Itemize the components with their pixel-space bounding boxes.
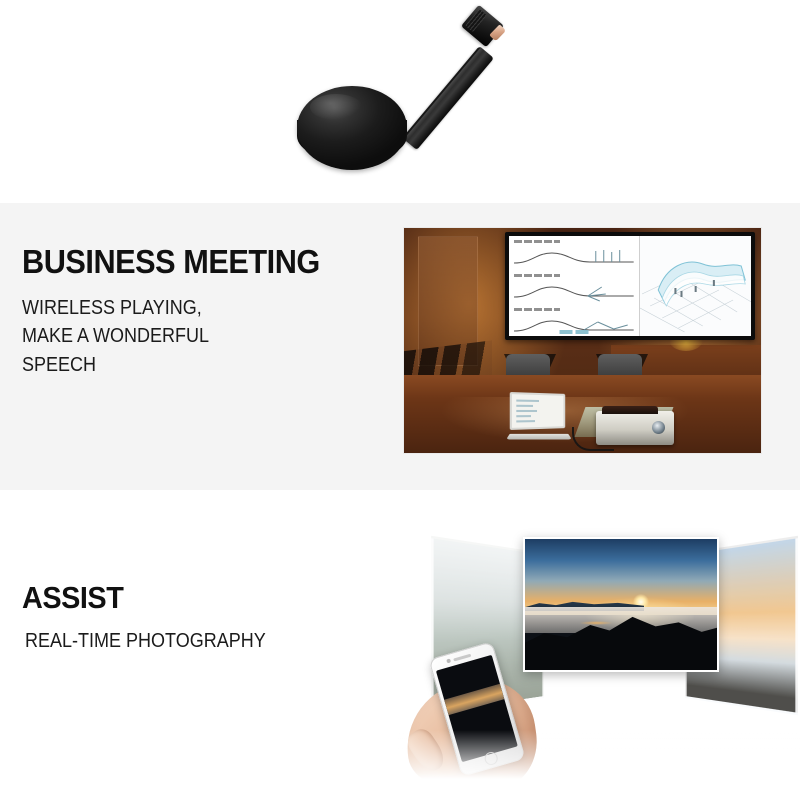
projector-top-panel (602, 406, 658, 414)
phone-photo-preview (444, 684, 504, 715)
hero-section (0, 0, 800, 203)
legend-swatch (559, 330, 572, 334)
photography-photo (398, 520, 800, 800)
diagram-panel-left (509, 236, 640, 336)
product-image-dongle (282, 2, 522, 200)
front-camera-icon (446, 658, 451, 663)
dongle-highlight (310, 94, 362, 120)
isometric-render-icon (640, 236, 751, 336)
laptop-screen (510, 392, 565, 430)
legend-swatch (575, 330, 588, 334)
display-content (509, 236, 751, 336)
diagram-curve-icon (514, 282, 634, 302)
business-meeting-copy: BUSINESS MEETING WIRELESS PLAYING, MAKE … (22, 245, 342, 379)
projector-lens-icon (652, 421, 665, 434)
product-detail-page: BUSINESS MEETING WIRELESS PLAYING, MAKE … (0, 0, 800, 800)
business-meeting-headline: BUSINESS MEETING (22, 245, 320, 278)
bottom-fade (398, 730, 800, 800)
hdmi-connector-icon (461, 5, 504, 48)
business-meeting-subline: WIRELESS PLAYING, MAKE A WONDERFUL SPEEC… (22, 294, 310, 379)
assist-subline: REAL-TIME PHOTOGRAPHY (25, 627, 266, 655)
photo-panel-center (523, 537, 719, 672)
laptop-keyboard (506, 434, 572, 440)
diagram-curve-icon (514, 248, 634, 268)
dongle-cable (402, 46, 494, 150)
diagram-label (514, 308, 560, 311)
laptop (508, 393, 570, 441)
diagram-label (514, 274, 560, 277)
assist-copy: ASSIST REAL-TIME PHOTOGRAPHY (22, 582, 292, 655)
diagram-label (514, 240, 560, 243)
conference-room-photo (404, 228, 761, 453)
diagram-row (514, 274, 634, 304)
wall-display-screen (505, 232, 755, 340)
diagram-row (514, 240, 634, 270)
diagram-legend (559, 330, 588, 334)
diagram-panel-right (640, 236, 751, 336)
assist-headline: ASSIST (22, 582, 274, 613)
projector (596, 411, 674, 445)
ridge-glint (579, 621, 613, 625)
